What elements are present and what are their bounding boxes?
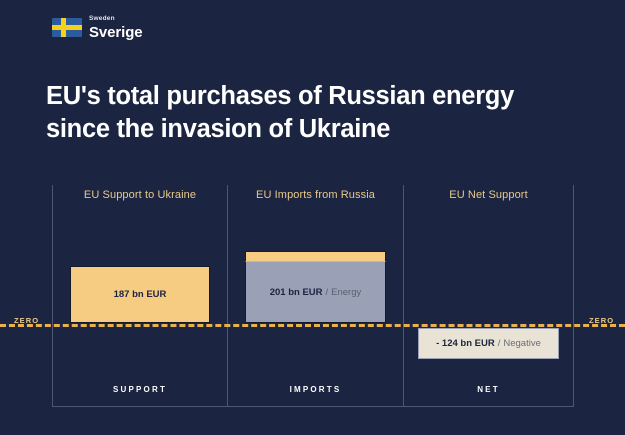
chart-column-support: EU Support to Ukraine 187 bn EUR SUPPORT	[52, 185, 228, 407]
zero-baseline	[0, 324, 625, 327]
bar-group-support: 187 bn EUR	[53, 185, 227, 406]
chart-area: EU Support to Ukraine 187 bn EUR SUPPORT…	[52, 185, 575, 407]
brand-big-label: Sverige	[89, 25, 143, 40]
column-footer-net: NET	[404, 385, 573, 394]
bar-note-imports-energy: Energy	[331, 287, 361, 298]
swedish-flag-icon	[52, 18, 82, 37]
bar-group-net: - 124 bn EUR / Negative	[404, 185, 573, 406]
bar-value-net: - 124 bn EUR	[436, 338, 495, 349]
bar-group-imports: 311 bn EUR / Total 201 bn EUR / Energy	[228, 185, 403, 406]
page-title: EU's total purchases of Russian energy s…	[46, 80, 566, 145]
brand-logo: Sweden Sverige	[52, 15, 143, 40]
bar-support-187: 187 bn EUR	[70, 266, 210, 323]
chart-column-net: EU Net Support - 124 bn EUR / Negative N…	[403, 185, 574, 407]
column-footer-imports: IMPORTS	[228, 385, 403, 394]
bar-value-support: 187 bn EUR	[114, 289, 167, 300]
bar-sep-net: /	[498, 338, 501, 349]
column-footer-support: SUPPORT	[53, 385, 227, 394]
bar-note-net: Negative	[503, 338, 541, 349]
bar-value-imports-energy: 201 bn EUR	[270, 287, 323, 298]
brand-text: Sweden Sverige	[89, 15, 143, 40]
bar-sep-imports-energy: /	[326, 287, 329, 298]
chart-column-imports: EU Imports from Russia 311 bn EUR / Tota…	[227, 185, 404, 407]
bar-net-negative-124: - 124 bn EUR / Negative	[418, 328, 559, 359]
bar-imports-energy-201: 201 bn EUR / Energy	[245, 261, 386, 323]
brand-small-label: Sweden	[89, 16, 143, 23]
zero-label-right: ZERO	[589, 316, 614, 325]
zero-label-left: ZERO	[14, 316, 39, 325]
chart-columns: EU Support to Ukraine 187 bn EUR SUPPORT…	[52, 185, 575, 407]
